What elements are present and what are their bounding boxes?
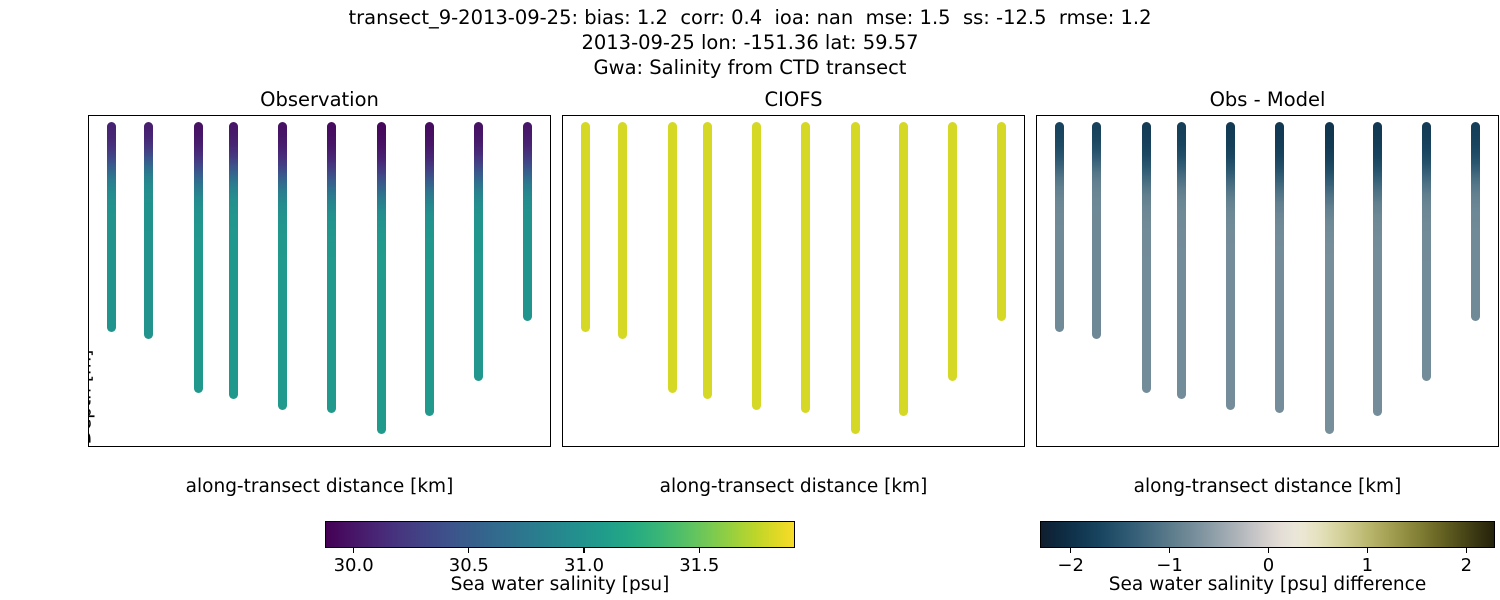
y-tick--20 (88, 188, 89, 189)
colorbar-tick-0 (353, 547, 354, 553)
colorbar-salinity-difference: −2−1012 (1040, 521, 1495, 548)
cast-profile (1092, 122, 1101, 338)
cast-profile (899, 122, 908, 416)
colorbar-tick-0 (1070, 547, 1071, 553)
colorbar-tick-4 (1466, 547, 1467, 553)
x-axis-label-obs-model: along-transect distance [km] (1036, 474, 1499, 500)
cast-profile (1226, 122, 1235, 409)
y-tick--100 (1036, 441, 1037, 442)
y-tick--80 (562, 378, 563, 379)
y-tick--20 (1036, 188, 1037, 189)
y-tick-0 (1036, 125, 1037, 126)
cast-profile (474, 122, 483, 381)
cast-profile (1471, 122, 1480, 321)
x-tick-4 (1008, 446, 1009, 447)
panel-title-obs-model: Obs - Model (1036, 88, 1499, 112)
x-tick-0 (1059, 446, 1060, 447)
colorbar-salinity: 30.030.531.031.5 (325, 521, 795, 548)
cast-profile (1275, 122, 1284, 413)
cast-profile (1422, 122, 1431, 381)
cast-profile (1373, 122, 1382, 416)
x-tick-2 (1270, 446, 1271, 447)
y-tick--100 (562, 441, 563, 442)
x-axis-label-ciofs: along-transect distance [km] (562, 474, 1025, 500)
y-tick-0 (88, 125, 89, 126)
cast-profile (229, 122, 238, 398)
cast-profile (278, 122, 287, 409)
x-tick-1 (217, 446, 218, 447)
x-tick-3 (428, 446, 429, 447)
panel-title-ciofs: CIOFS (562, 88, 1025, 112)
x-tick-3 (1376, 446, 1377, 447)
colorbar-title-salinity: Sea water salinity [psu] (285, 572, 835, 598)
y-tick--40 (88, 251, 89, 252)
y-tick--20 (562, 188, 563, 189)
colorbar-tick-1 (1169, 547, 1170, 553)
cast-profile (144, 122, 153, 338)
x-tick-0 (111, 446, 112, 447)
y-axis-label: Depth [m] (88, 297, 96, 447)
x-tick-2 (322, 446, 323, 447)
panel-title-observation: Observation (88, 88, 551, 112)
cast-profile (801, 122, 810, 413)
y-tick--40 (1036, 251, 1037, 252)
y-tick-0 (562, 125, 563, 126)
axes-obs-model: 01234 (1036, 115, 1499, 447)
colorbar-tick-2 (583, 547, 584, 553)
x-tick-4 (534, 446, 535, 447)
cast-profile (1142, 122, 1151, 392)
cast-profile (997, 122, 1006, 321)
x-tick-1 (691, 446, 692, 447)
y-tick--80 (1036, 378, 1037, 379)
cast-profile (1325, 122, 1334, 433)
colorbar-tick-1 (468, 547, 469, 553)
axes-observation: Depth [m] 012340−20−40−60−80−100 (88, 115, 551, 447)
cast-profile (107, 122, 116, 332)
cast-profile (851, 122, 860, 433)
cast-profile (668, 122, 677, 392)
figure-title-line-2: 2013-09-25 lon: -151.36 lat: 59.57 (0, 31, 1500, 54)
cast-profile (948, 122, 957, 381)
x-axis-label-observation: along-transect distance [km] (88, 474, 551, 500)
cast-profile (703, 122, 712, 398)
cast-profile (1055, 122, 1064, 332)
y-tick--40 (562, 251, 563, 252)
x-tick-3 (902, 446, 903, 447)
cast-profile (327, 122, 336, 413)
cast-profile (523, 122, 532, 321)
cast-profile (752, 122, 761, 409)
colorbar-tick-3 (699, 547, 700, 553)
y-tick--100 (88, 441, 89, 442)
figure-title-line-3: Gwa: Salinity from CTD transect (0, 56, 1500, 79)
x-tick-2 (796, 446, 797, 447)
cast-profile (425, 122, 434, 416)
cast-profile (377, 122, 386, 433)
y-tick--60 (1036, 315, 1037, 316)
colorbar-title-salinity-difference: Sea water salinity [psu] difference (1000, 572, 1500, 598)
y-tick--60 (88, 315, 89, 316)
cast-profile (618, 122, 627, 338)
x-tick-4 (1482, 446, 1483, 447)
y-tick--80 (88, 378, 89, 379)
colorbar-tick-3 (1367, 547, 1368, 553)
y-tick--60 (562, 315, 563, 316)
cast-profile (194, 122, 203, 392)
x-tick-0 (585, 446, 586, 447)
cast-profile (581, 122, 590, 332)
figure-title-line-1: transect_9-2013-09-25: bias: 1.2 corr: 0… (0, 6, 1500, 29)
x-tick-1 (1165, 446, 1166, 447)
cast-profile (1177, 122, 1186, 398)
figure-canvas: transect_9-2013-09-25: bias: 1.2 corr: 0… (0, 0, 1500, 600)
colorbar-tick-2 (1268, 547, 1269, 553)
axes-ciofs: 01234 (562, 115, 1025, 447)
